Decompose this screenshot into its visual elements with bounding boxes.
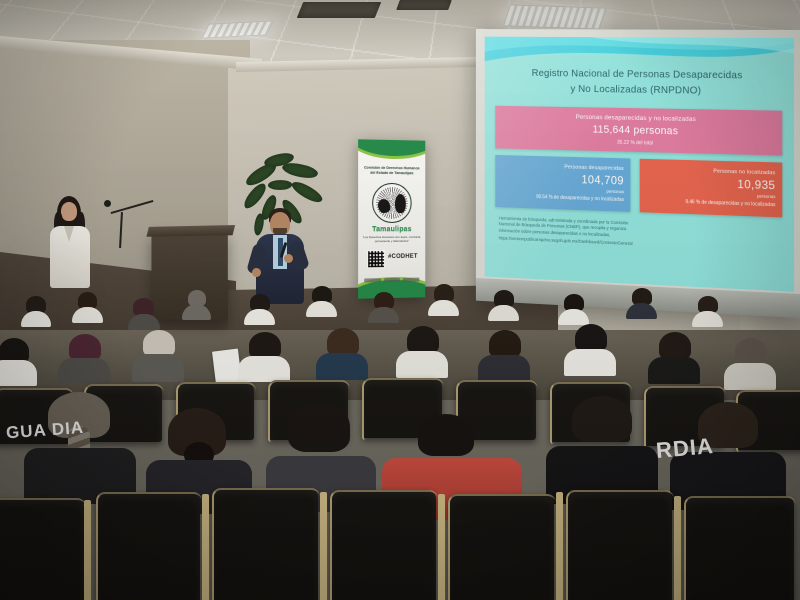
attendee xyxy=(562,294,588,320)
attendee xyxy=(372,292,398,318)
shoulders xyxy=(478,355,530,382)
attendee xyxy=(248,294,274,320)
hair xyxy=(143,330,175,357)
presentation-slide: Registro Nacional de Personas Desapareci… xyxy=(485,37,794,292)
head xyxy=(61,202,77,221)
theater-seat xyxy=(330,490,436,600)
attendee xyxy=(404,326,446,374)
attendee xyxy=(630,288,656,314)
stat-unlocated-value: 10,935 xyxy=(646,174,775,192)
seat-trim xyxy=(84,500,91,600)
shoulders xyxy=(128,314,160,330)
shoulders xyxy=(238,356,290,382)
hair xyxy=(69,334,101,361)
stat-total-percent: 35.22 % del total xyxy=(501,137,777,149)
projection-screen: Registro Nacional de Personas Desapareci… xyxy=(476,29,800,318)
banner-org-line2: del Estado de Tamaulipas xyxy=(358,170,425,176)
shoulders xyxy=(626,303,657,319)
shoulders xyxy=(244,309,275,325)
attendee xyxy=(696,296,722,322)
attendee xyxy=(486,330,528,378)
stat-card-missing: Personas desaparecidas 104,709 personas … xyxy=(495,155,630,212)
shoulders xyxy=(0,360,37,386)
attendee xyxy=(24,296,50,322)
attendee-front xyxy=(276,402,364,502)
hair xyxy=(418,414,474,456)
qr-code-icon xyxy=(367,250,385,268)
banner-tagline: "Los Derechos Humanos son leyes, conduct… xyxy=(358,236,425,244)
attendee xyxy=(324,328,366,376)
banner-top-arc xyxy=(358,139,425,157)
stat-missing-value: 104,709 xyxy=(501,170,623,187)
shoulders xyxy=(368,307,399,323)
seat-trim xyxy=(556,492,563,600)
shoulders xyxy=(316,353,368,380)
shoulders xyxy=(648,357,700,384)
stat-card-unlocated: Personas no localizadas 10,935 personas … xyxy=(640,158,783,217)
theater-seat xyxy=(448,494,554,600)
hair xyxy=(288,402,350,452)
attendee xyxy=(140,330,182,378)
microphone-icon xyxy=(104,200,111,207)
conference-room-scene: Registro Nacional de Personas Desapareci… xyxy=(0,0,800,600)
seat-trim xyxy=(202,494,209,600)
shoulders xyxy=(692,311,723,327)
slide-title: Registro Nacional de Personas Desapareci… xyxy=(485,37,794,109)
hair xyxy=(659,332,691,360)
logo-figures-icon xyxy=(377,193,407,213)
attendee xyxy=(656,332,698,380)
stat-unlocated-percent: 9.46 % de desaparecidas y no localizadas xyxy=(646,197,775,207)
hand-holding-mic xyxy=(284,254,293,263)
shoulders xyxy=(58,358,110,384)
shoulders xyxy=(396,351,448,378)
plant-leaf xyxy=(281,159,319,181)
hand xyxy=(252,268,261,277)
shoulders xyxy=(488,305,519,321)
attendee xyxy=(186,290,210,316)
attendee xyxy=(246,332,288,378)
seat-trim xyxy=(320,492,327,600)
shoulders xyxy=(428,300,459,316)
attendee xyxy=(66,334,108,380)
attendee-front xyxy=(34,392,126,496)
attendee xyxy=(572,324,614,372)
attendee xyxy=(132,298,158,324)
hair xyxy=(575,324,607,352)
plant-leaf xyxy=(268,179,293,191)
hair xyxy=(327,328,359,356)
attendee xyxy=(0,338,36,382)
partner-logo xyxy=(384,277,400,281)
theater-seat xyxy=(566,490,672,600)
attendee-front xyxy=(556,396,648,500)
shoulders xyxy=(564,349,616,376)
shoulders xyxy=(132,354,184,382)
attendee xyxy=(76,292,102,318)
hair xyxy=(735,338,767,366)
shoulders xyxy=(558,309,589,325)
banner-organization: Comisión de Derechos Humanos del Estado … xyxy=(358,166,425,177)
stat-total-value: 115,644 personas xyxy=(501,122,777,139)
slide-footnote: Herramienta de búsqueda, administrada y … xyxy=(499,215,779,254)
shoulders xyxy=(306,301,337,317)
shoulders xyxy=(724,363,776,390)
stat-card-row: Personas desaparecidas 104,709 personas … xyxy=(495,155,782,217)
banner-logo-icon xyxy=(371,182,412,224)
shoulders xyxy=(182,304,211,320)
stat-missing-percent: 90.54 % de desaparecidas y no localizada… xyxy=(501,193,623,203)
hair xyxy=(407,326,439,354)
seat-trim xyxy=(438,494,445,600)
theater-seat xyxy=(212,488,318,600)
attendee xyxy=(310,286,336,312)
theater-seat xyxy=(0,498,84,600)
podium-top xyxy=(147,225,236,237)
attendee xyxy=(432,284,458,310)
banner-hashtag: #CODHET xyxy=(388,254,418,260)
audience: GUA DIA RDIA xyxy=(0,282,800,600)
codhet-banner: Comisión de Derechos Humanos del Estado … xyxy=(358,139,425,298)
attendee xyxy=(492,290,518,316)
shoulders xyxy=(72,307,103,323)
hair xyxy=(572,396,632,442)
slide-title-line2: y No Localizadas (RNPDNO) xyxy=(499,81,779,101)
stat-card-total: Personas desaparecidas y no localizadas … xyxy=(495,105,782,155)
attendee xyxy=(732,338,774,386)
banner-state-word: Tamaulipas xyxy=(358,226,425,233)
hair xyxy=(489,330,521,358)
partner-logo xyxy=(403,277,419,281)
hair xyxy=(249,332,281,359)
theater-seat xyxy=(96,492,200,600)
plant-leaf xyxy=(290,178,325,207)
theater-seat xyxy=(684,496,794,600)
seat-trim xyxy=(674,496,681,600)
shoulders xyxy=(21,311,51,327)
